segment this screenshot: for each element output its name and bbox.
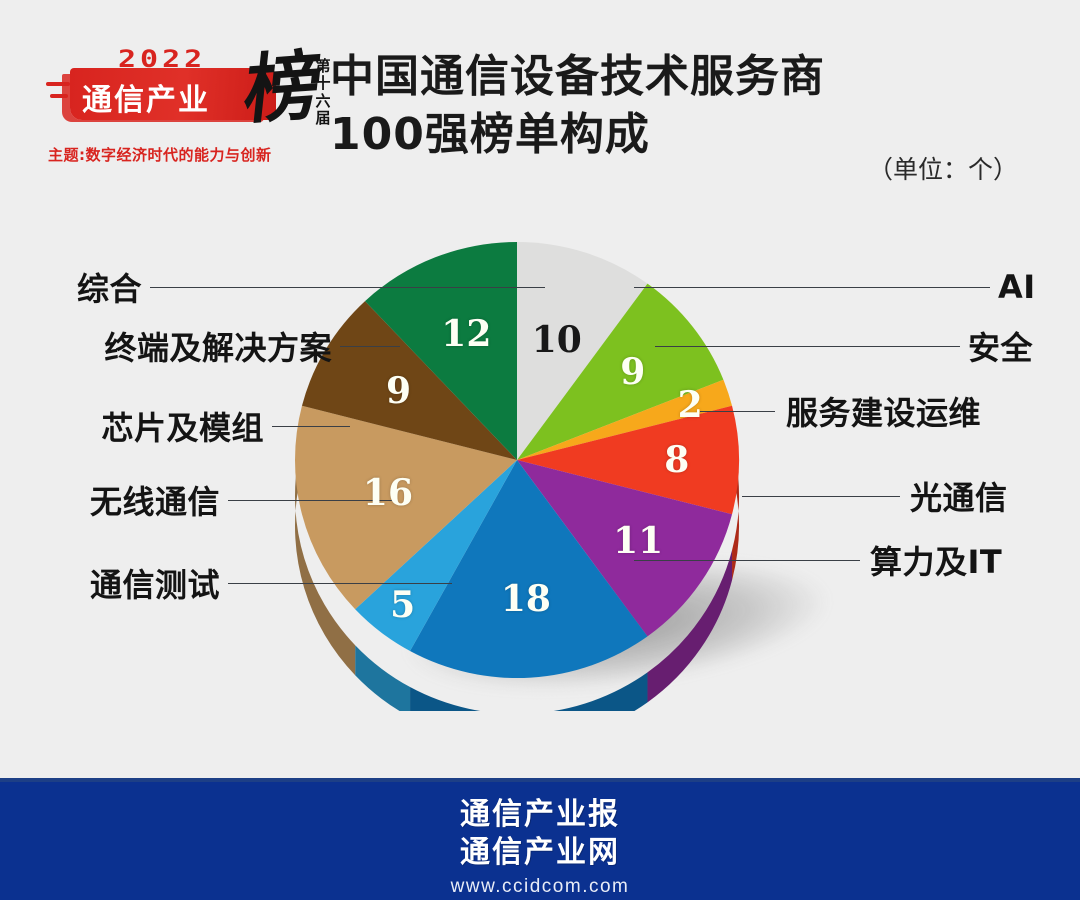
slice-value-通信测试: 5 [390, 584, 415, 626]
slice-value-综合: 10 [532, 319, 582, 361]
footer-url[interactable]: www.ccidcom.com [0, 876, 1080, 898]
leader-line-通信测试 [228, 583, 452, 584]
leader-line-光通信 [742, 496, 900, 497]
header: 2022 通信产业 榜 第十六届 主题:数字经济时代的能力与创新 中国通信设备技… [0, 0, 1080, 215]
logo-subtitle: 主题:数字经济时代的能力与创新 [48, 144, 318, 165]
leader-line-综合 [150, 287, 545, 288]
slice-label-综合[interactable]: 综合 [77, 264, 142, 310]
slice-label-算力及IT[interactable]: 算力及IT [870, 537, 1002, 583]
leader-line-芯片及模组 [272, 426, 350, 427]
slice-value-无线通信: 16 [363, 472, 413, 514]
leader-line-安全 [655, 346, 960, 347]
slice-value-终端及解决方案: 12 [441, 313, 491, 355]
slice-label-服务建设运维[interactable]: 服务建设运维 [786, 388, 981, 434]
slice-value-AI: 9 [620, 351, 645, 393]
footer-website-name: 通信产业网 [0, 834, 1080, 872]
unit-note: （单位：个） [868, 150, 1018, 186]
page-title: 中国通信设备技术服务商 100强榜单构成 [330, 48, 990, 164]
leader-line-终端及解决方案 [340, 346, 400, 347]
footer-publication: 通信产业报 [0, 796, 1080, 834]
slice-label-芯片及模组[interactable]: 芯片及模组 [101, 403, 264, 449]
slice-label-安全[interactable]: 安全 [968, 323, 1033, 369]
slice-value-安全: 2 [678, 384, 703, 426]
slice-value-服务建设运维: 8 [664, 439, 689, 481]
chart-area: 109281118516912 AI安全服务建设运维光通信算力及IT综合终端及解… [0, 215, 1080, 775]
slice-value-算力及IT: 18 [501, 578, 551, 620]
slice-label-AI[interactable]: AI [998, 268, 1036, 306]
slice-label-终端及解决方案[interactable]: 终端及解决方案 [104, 323, 332, 369]
infographic-root: 2022 通信产业 榜 第十六届 主题:数字经济时代的能力与创新 中国通信设备技… [0, 0, 1080, 900]
leader-line-服务建设运维 [700, 411, 775, 412]
slice-value-光通信: 11 [613, 520, 663, 562]
footer-content: 通信产业报 通信产业网 www.ccidcom.com [0, 796, 1080, 898]
leader-line-算力及IT [634, 560, 860, 561]
page-title-line1: 中国通信设备技术服务商 [330, 51, 825, 102]
slice-value-芯片及模组: 9 [386, 370, 411, 412]
slice-label-通信测试[interactable]: 通信测试 [90, 560, 220, 606]
slice-label-无线通信[interactable]: 无线通信 [90, 477, 220, 523]
footer-banner: 通信产业报 通信产业网 www.ccidcom.com [0, 778, 1080, 900]
event-logo: 2022 通信产业 榜 第十六届 主题:数字经济时代的能力与创新 [40, 42, 315, 182]
slice-label-光通信[interactable]: 光通信 [910, 473, 1008, 519]
logo-year: 2022 [118, 46, 206, 74]
leader-line-AI [634, 287, 990, 288]
